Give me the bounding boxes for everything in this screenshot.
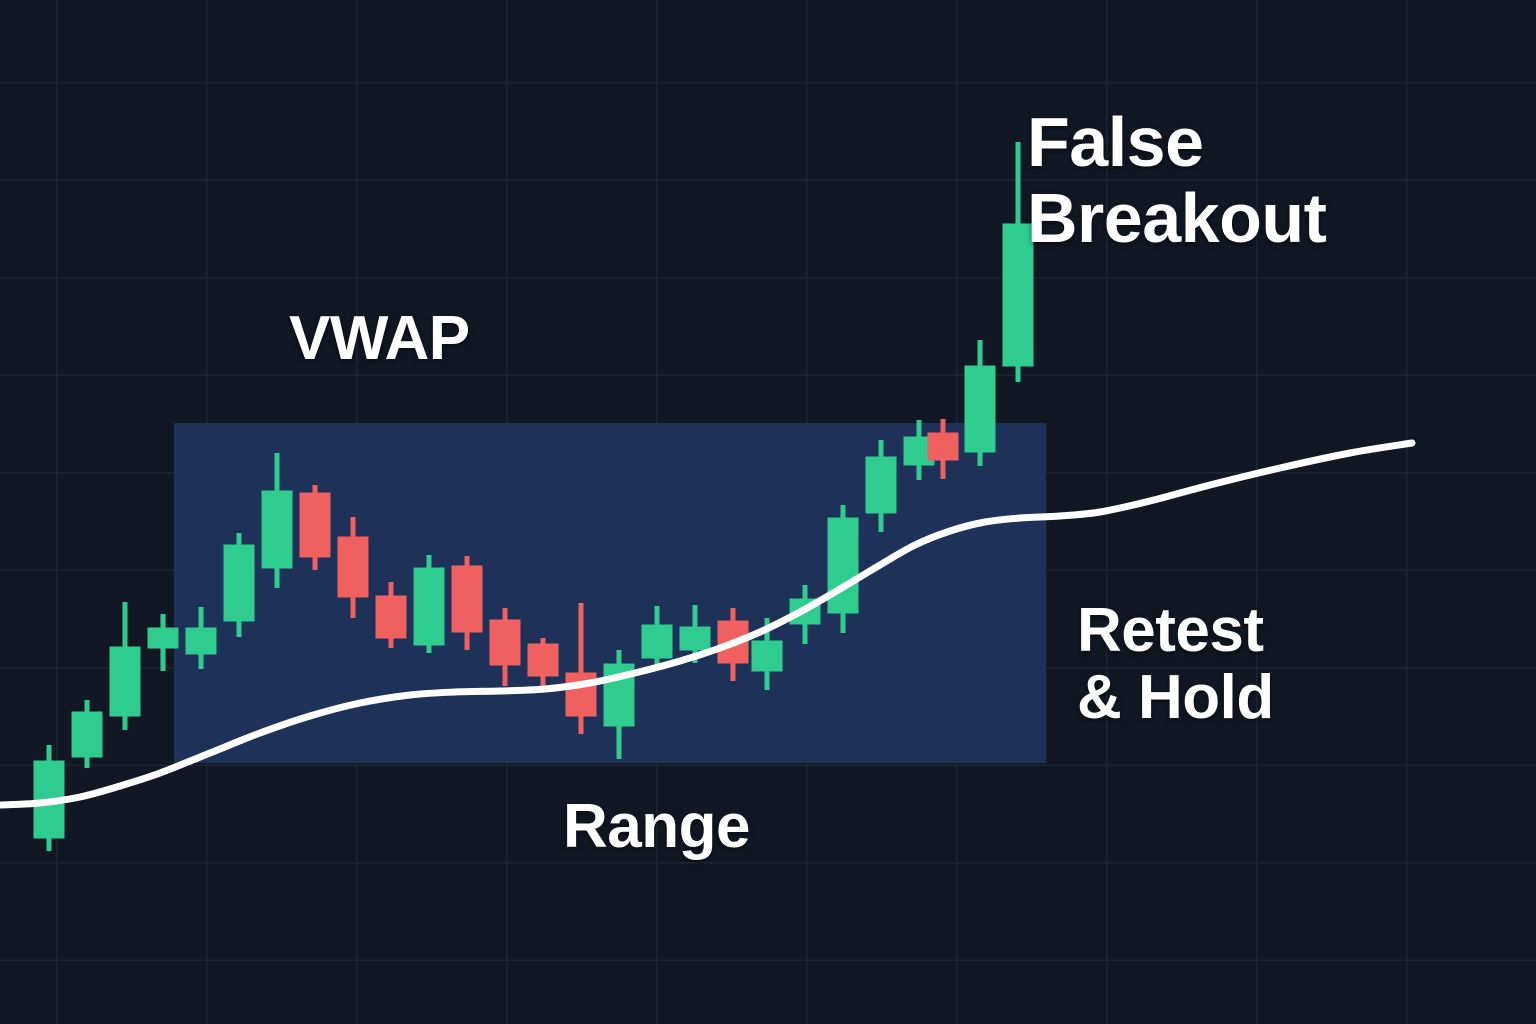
candle-body [928, 433, 958, 460]
annotation-vwap: VWAP [289, 306, 470, 373]
candle-body [72, 712, 102, 757]
candle [110, 602, 140, 730]
annotation-false-breakout: False Breakout [1027, 105, 1326, 256]
candle-body [376, 596, 406, 638]
chart-canvas: VWAP False Breakout Retest & Hold Range [0, 0, 1536, 1024]
candle-body [680, 627, 710, 650]
candle-body [490, 620, 520, 665]
candle-body [452, 566, 482, 632]
candle [300, 485, 330, 570]
candle-body [642, 625, 672, 658]
candle-body [148, 628, 178, 648]
candle [148, 614, 178, 671]
candle-body [186, 628, 216, 654]
candle-body [414, 568, 444, 645]
candle-body [752, 641, 782, 671]
candle-body [338, 537, 368, 597]
candle [965, 340, 995, 466]
annotation-retest-and-hold: Retest & Hold [1077, 598, 1274, 732]
candle [224, 533, 254, 637]
candle-body [828, 518, 858, 613]
candle [414, 555, 444, 653]
candle-body [300, 493, 330, 557]
candle [72, 700, 102, 768]
candle-body [528, 644, 558, 676]
candle-body [866, 457, 896, 513]
candle-body [224, 545, 254, 621]
annotation-range: Range [563, 794, 750, 861]
candle-body [110, 647, 140, 716]
candle-body [965, 366, 995, 452]
candle-body [262, 491, 292, 568]
